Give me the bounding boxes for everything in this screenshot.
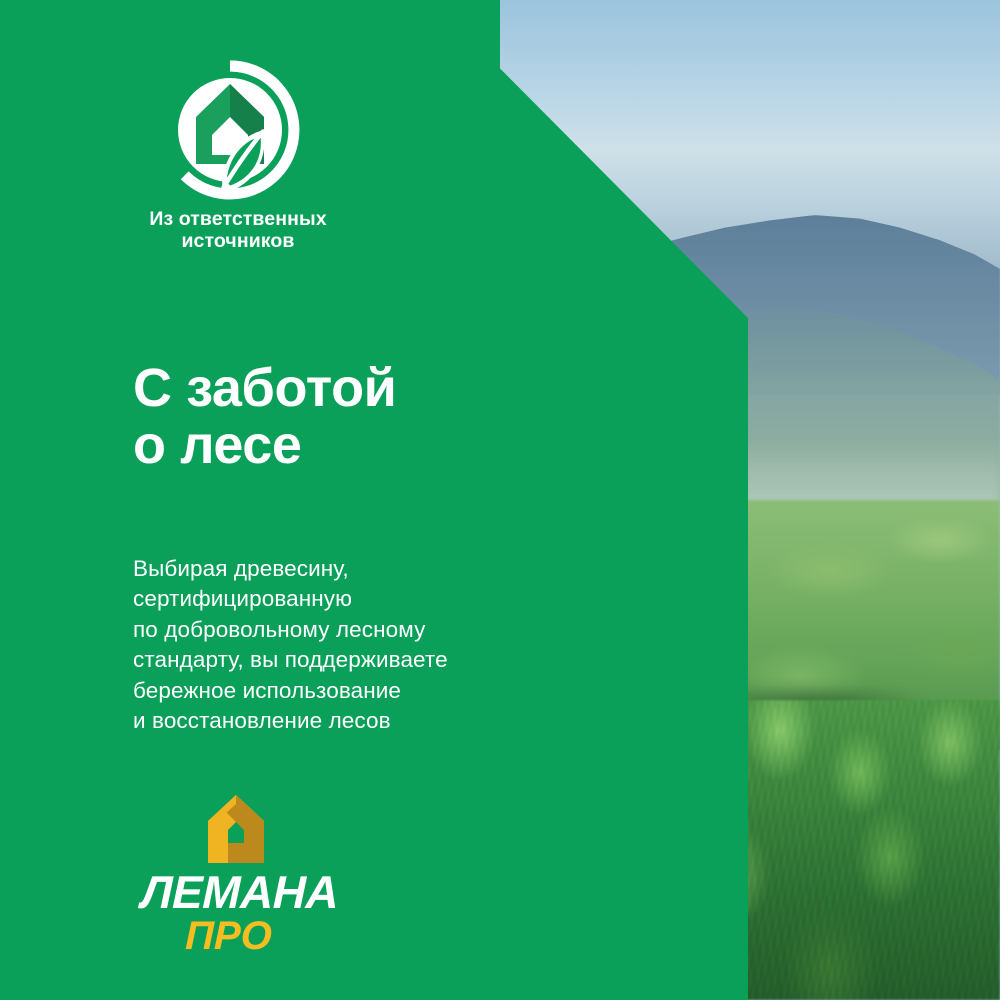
page-title: С заботой о лесе [133, 360, 396, 474]
certification-caption: Из ответственных источников [133, 208, 343, 252]
responsible-sources-emblem-icon [160, 60, 300, 200]
body-paragraph: Выбирая древесину, сертифицированную по … [133, 554, 448, 737]
lemana-pro-logo: ЛЕМАНА ПРО [141, 795, 316, 957]
certification-logo: Из ответственных источников [133, 60, 343, 252]
brand-name: ЛЕМАНА [141, 869, 317, 915]
poster-root: Из ответственных источников С заботой о … [0, 0, 1000, 1000]
brand-subname: ПРО [141, 915, 317, 957]
lemana-house-logo-icon [198, 795, 274, 863]
